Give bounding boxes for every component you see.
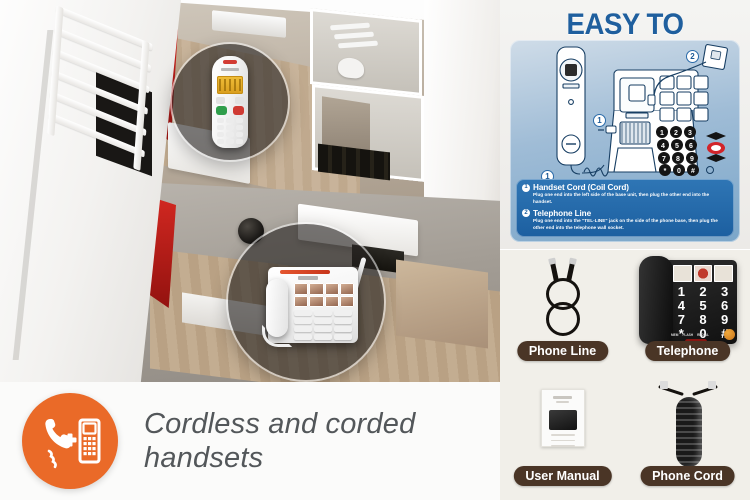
svg-text:3: 3 (688, 130, 692, 137)
step-number-1: 1 (522, 184, 530, 192)
install-steps: 1 Handset Cord (Coil Cord) Plug one end … (516, 179, 734, 237)
feature-caption-text: Cordless and corded handsets (144, 407, 415, 475)
orange-function-button (724, 329, 735, 340)
install-step-2: 2 Telephone Line Plug one end into the "… (522, 209, 728, 232)
callout-badge-1-top: 1 (593, 114, 606, 127)
box-item-label-user-manual: User Manual (513, 466, 611, 486)
svg-text:1: 1 (660, 130, 664, 137)
booklet-icon (500, 379, 625, 469)
box-item-phone-line: Phone Line (500, 250, 625, 375)
corded-phone-icon (254, 263, 358, 347)
key-4: 4 (671, 299, 692, 312)
step-body-1: Plug one end into the left side of the b… (533, 192, 728, 206)
black-big-button-phone-icon: 1 2 3 4 5 6 7 8 9 * 0 # MEM (625, 254, 750, 344)
svg-text:7: 7 (662, 156, 666, 163)
box-item-telephone: 1 2 3 4 5 6 7 8 9 * 0 # MEM (625, 250, 750, 375)
feature-caption: Cordless and corded handsets (0, 382, 500, 500)
key-3: 3 (714, 285, 735, 298)
svg-text:5: 5 (675, 143, 679, 150)
box-contents-panel: Phone Line 1 2 3 4 5 6 7 8 (500, 250, 750, 500)
svg-text:2: 2 (674, 130, 678, 137)
box-item-phone-cord: Phone Cord (625, 375, 750, 500)
cordless-handset-inset (172, 44, 288, 160)
step-number-2: 2 (522, 209, 530, 217)
key-9: 9 (714, 313, 735, 326)
feature-caption-line1: Cordless and corded (144, 407, 415, 441)
callout-badge-2: 2 (686, 50, 699, 63)
key-1: 1 (671, 285, 692, 298)
cordless-handset-icon (212, 56, 248, 148)
key-7: 7 (671, 313, 692, 326)
step-title-1: Handset Cord (Coil Cord) (533, 183, 629, 192)
exterior-wall-right (424, 0, 500, 225)
install-diagram-card: 123 456 789 *0# (510, 40, 740, 242)
svg-text:9: 9 (690, 156, 694, 163)
lifestyle-panel: Cordless and corded handsets (0, 0, 500, 500)
install-step-1: 1 Handset Cord (Coil Cord) Plug one end … (522, 183, 728, 206)
key-2: 2 (693, 285, 714, 298)
cord-coil-icon (500, 254, 625, 344)
svg-text:8: 8 (676, 156, 680, 163)
product-infographic: Cordless and corded handsets EASY TO INS… (0, 0, 750, 500)
key-5: 5 (693, 299, 714, 312)
svg-text:6: 6 (689, 143, 693, 150)
function-label-redial: REDIAL (697, 333, 709, 337)
key-6: 6 (714, 299, 735, 312)
feature-caption-line2: handsets (144, 441, 415, 475)
svg-text:#: # (691, 168, 695, 175)
handset-plus-cordless-phone-icon (22, 393, 118, 489)
corded-phone-inset (228, 224, 384, 380)
box-item-label-phone-cord: Phone Cord (640, 466, 735, 486)
easy-to-install-panel: EASY TO INSTALL (500, 0, 750, 250)
curly-cord-icon (625, 379, 750, 469)
box-item-label-telephone: Telephone (645, 341, 731, 361)
function-label-mem: MEM (671, 333, 678, 337)
svg-text:0: 0 (677, 168, 681, 175)
svg-text:4: 4 (661, 143, 665, 150)
box-item-user-manual: User Manual (500, 375, 625, 500)
key-8: 8 (693, 313, 714, 326)
bathroom-cell (310, 8, 422, 96)
function-label-flash: FLASH (682, 333, 693, 337)
box-item-label-phone-line: Phone Line (517, 341, 608, 361)
home-interior-cutaway-scene (0, 0, 500, 382)
step-body-2: Plug one end into the "TEL-LINE" jack on… (533, 218, 728, 232)
sofa (396, 260, 488, 349)
svg-text:*: * (664, 168, 667, 175)
step-title-2: Telephone Line (533, 209, 591, 218)
